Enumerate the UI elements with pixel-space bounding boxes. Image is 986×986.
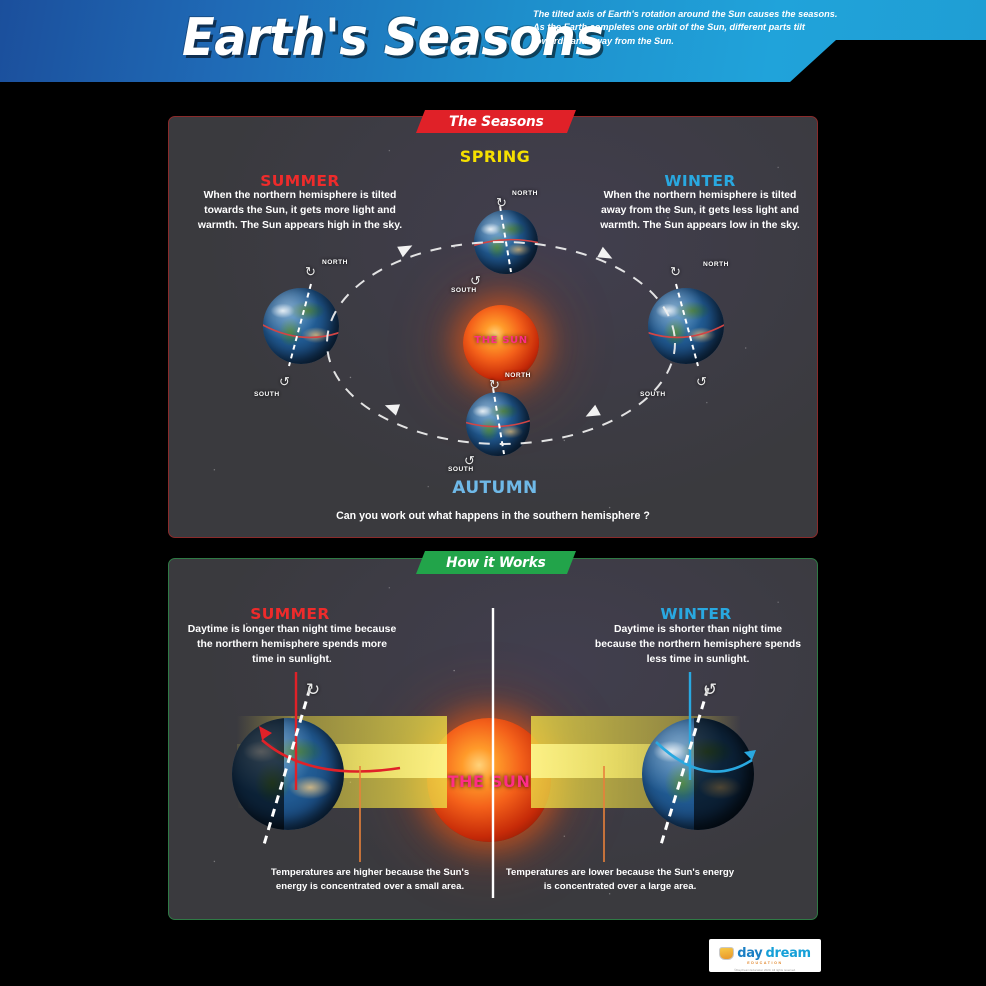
earth-spring xyxy=(474,210,538,274)
caption-higher-temperature: Temperatures are higher because the Sun'… xyxy=(255,866,485,893)
rotation-arrow-winter-south: ↺ xyxy=(694,376,709,387)
earth-summer xyxy=(263,288,339,364)
logo-word-day: day xyxy=(737,946,762,961)
logo-mark-icon xyxy=(719,947,734,960)
rotation-arrow-autumn: ↻ xyxy=(487,379,502,390)
rotation-arrow-spring-south: ↺ xyxy=(468,275,483,286)
night-side-right xyxy=(642,718,754,830)
rotation-arrow-summer-south: ↺ xyxy=(277,376,292,387)
sun-seasons: THE SUN xyxy=(463,305,539,381)
seasons-banner: The Seasons xyxy=(416,110,576,133)
winter-text-seasons: When the northern hemisphere is tilted a… xyxy=(597,189,803,233)
rotation-arrow-autumn-south: ↺ xyxy=(462,455,477,466)
logo-word-dream: dream xyxy=(765,946,810,961)
how-it-works-banner-label: How it Works xyxy=(446,555,545,571)
rotation-arrow-summer: ↻ xyxy=(303,266,318,277)
axis-summer xyxy=(263,268,339,384)
logo-copyright: ©Daydream Education 2020. All rights res… xyxy=(709,968,821,972)
sun-label-seasons: THE SUN xyxy=(463,335,539,346)
north-label-autumn: NORTH xyxy=(505,372,531,379)
south-label-spring: SOUTH xyxy=(451,287,477,294)
south-label-winter: SOUTH xyxy=(640,391,666,398)
seasons-banner-label: The Seasons xyxy=(449,114,543,130)
summer-text-works: Daytime is longer than night time becaus… xyxy=(187,623,397,667)
logo-row: day dream xyxy=(719,946,811,961)
summer-label-seasons: SUMMER xyxy=(200,172,400,190)
winter-text-works: Daytime is shorter than night time becau… xyxy=(593,623,803,667)
summer-label-works: SUMMER xyxy=(190,605,390,623)
night-side-left xyxy=(232,718,344,830)
earth-summer-tilt xyxy=(232,718,344,830)
winter-label-works: WINTER xyxy=(596,605,796,623)
logo-tagline: EDUCATION xyxy=(747,961,783,965)
spring-label: SPRING xyxy=(435,147,555,166)
winter-label-seasons: WINTER xyxy=(600,172,800,190)
earth-winter-tilt xyxy=(642,718,754,830)
north-label-summer: NORTH xyxy=(322,259,348,266)
rotation-arrow-spring: ↻ xyxy=(494,197,509,208)
caption-lower-temperature: Temperatures are lower because the Sun's… xyxy=(505,866,735,893)
rotation-arrow-left-earth: ↻ xyxy=(303,684,323,700)
north-label-winter: NORTH xyxy=(703,261,729,268)
axis-winter xyxy=(648,268,724,384)
south-label-summer: SOUTH xyxy=(254,391,280,398)
header-subtitle: The tilted axis of Earth's rotation arou… xyxy=(533,8,838,48)
how-it-works-banner: How it Works xyxy=(416,551,576,574)
rotation-arrow-winter: ↻ xyxy=(668,266,683,277)
north-label-spring: NORTH xyxy=(512,190,538,197)
summer-text-seasons: When the northern hemisphere is tilted t… xyxy=(197,189,403,233)
seasons-question: Can you work out what happens in the sou… xyxy=(243,510,743,522)
earth-winter xyxy=(648,288,724,364)
earth-autumn xyxy=(466,392,530,456)
rotation-arrow-right-earth: ↺ xyxy=(700,684,720,700)
autumn-label: AUTUMN xyxy=(435,478,555,498)
poster-header: Earth's Seasons The tilted axis of Earth… xyxy=(0,0,986,82)
poster-root: Earth's Seasons The tilted axis of Earth… xyxy=(0,0,986,986)
